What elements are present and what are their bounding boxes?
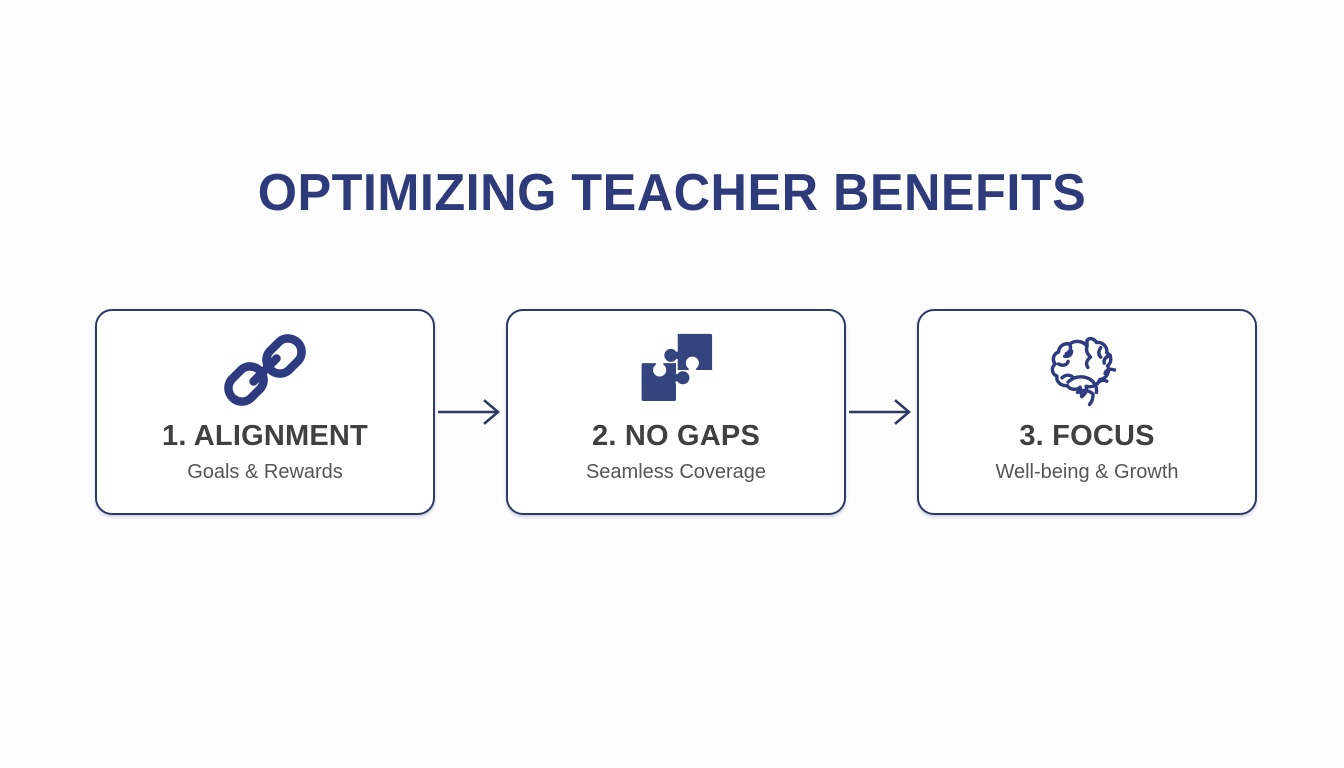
card-title: 2. NO GAPS <box>592 419 760 453</box>
process-flow: 1. ALIGNMENT Goals & Rewards <box>95 308 1257 516</box>
chain-link-icon <box>222 327 308 413</box>
card-subtitle: Well-being & Growth <box>995 460 1178 484</box>
card-subtitle: Seamless Coverage <box>586 460 766 484</box>
brain-icon <box>1044 327 1130 413</box>
card-title: 1. ALIGNMENT <box>162 419 368 453</box>
card-subtitle: Goals & Rewards <box>187 460 343 484</box>
arrow-right-icon <box>438 397 504 427</box>
card-alignment[interactable]: 1. ALIGNMENT Goals & Rewards <box>95 309 435 515</box>
card-no-gaps[interactable]: 2. NO GAPS Seamless Coverage <box>506 309 846 515</box>
arrow-right-icon <box>849 397 915 427</box>
card-title: 3. FOCUS <box>1019 419 1154 453</box>
puzzle-pieces-icon <box>633 327 719 413</box>
slide-canvas: OPTIMIZING TEACHER BENEFITS 1. ALIGNMENT… <box>0 0 1344 768</box>
card-focus[interactable]: 3. FOCUS Well-being & Growth <box>917 309 1257 515</box>
page-title: OPTIMIZING TEACHER BENEFITS <box>20 162 1324 224</box>
